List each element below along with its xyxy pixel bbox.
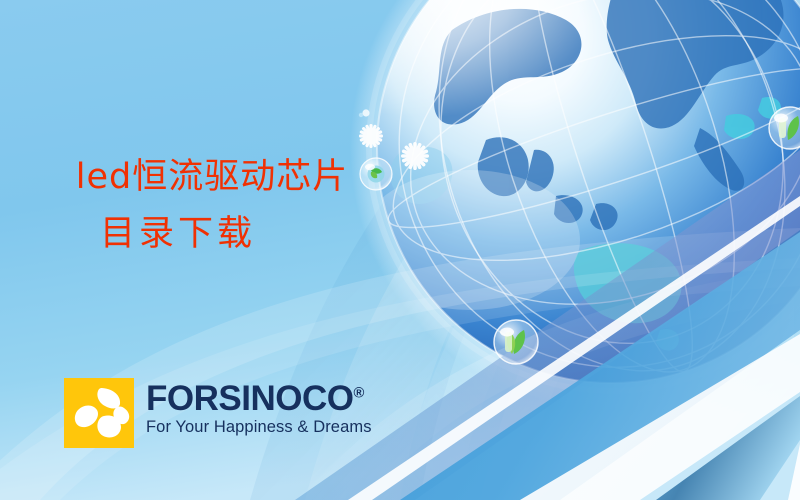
logo-wordmark-text: FORSINOCO — [146, 379, 353, 418]
logo-wordmark: FORSINOCO® — [146, 382, 372, 416]
company-logo[interactable]: FORSINOCO® For Your Happiness & Dreams — [64, 378, 372, 448]
promo-banner: led恒流驱动芯片 目录下载 FORSINOCO® For Your Happi… — [0, 0, 800, 500]
logo-text-block: FORSINOCO® For Your Happiness & Dreams — [146, 378, 372, 436]
bubble-globe-icon — [360, 158, 392, 190]
bubble-leaf-icon — [494, 320, 538, 364]
logo-tagline: For Your Happiness & Dreams — [146, 418, 372, 436]
registered-trademark-symbol: ® — [353, 385, 364, 401]
four-petal-pinwheel-icon — [64, 378, 134, 448]
